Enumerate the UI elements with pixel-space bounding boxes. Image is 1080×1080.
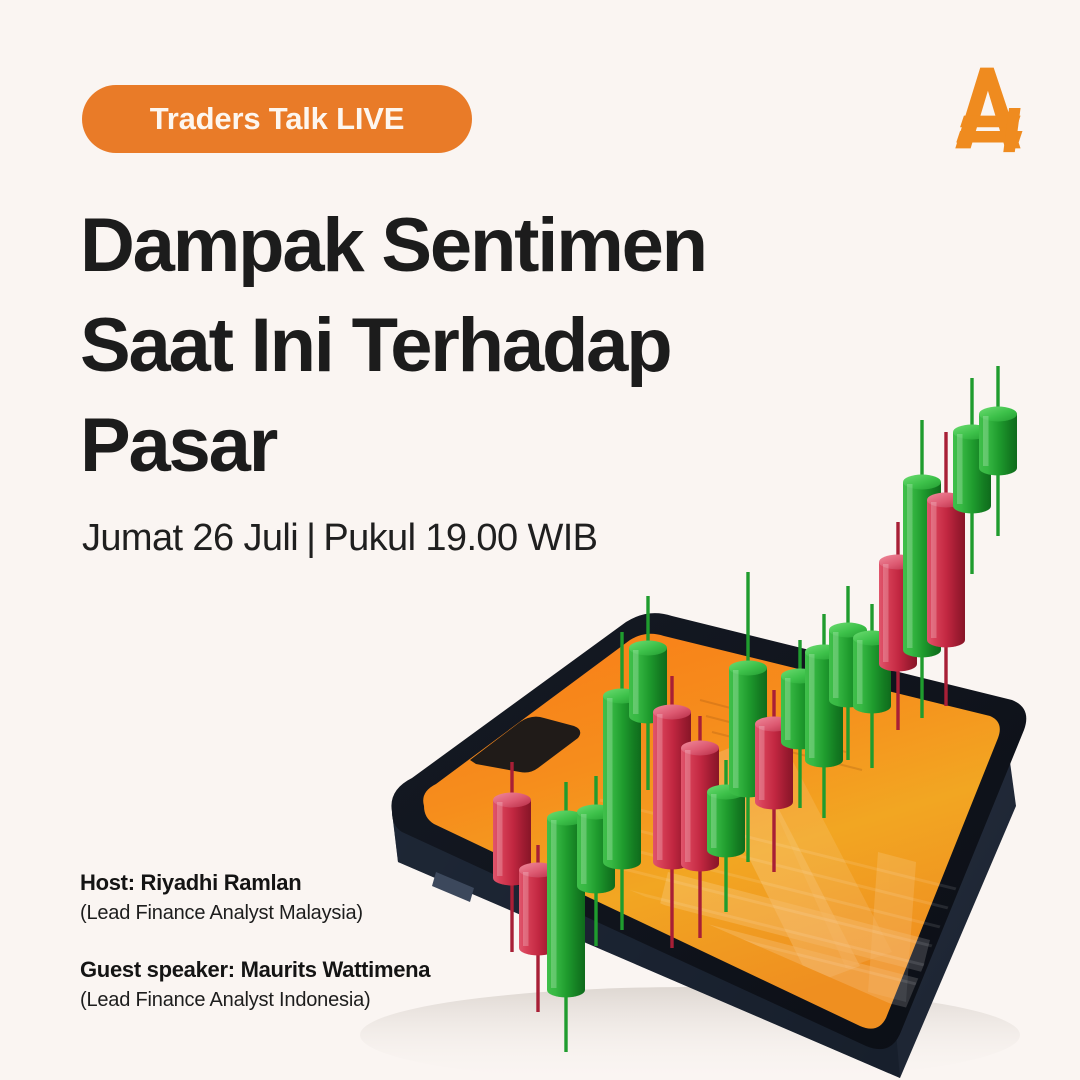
credit-host-role: (Lead Finance Analyst Malaysia) (80, 898, 363, 928)
credit-host-name: Host: Riyadhi Ramlan (80, 868, 363, 898)
credit-guest-role: (Lead Finance Analyst Indonesia) (80, 985, 430, 1015)
speaker-credits: Host: Riyadhi Ramlan (Lead Finance Analy… (0, 0, 1080, 1080)
credit-host: Host: Riyadhi Ramlan (Lead Finance Analy… (80, 868, 363, 928)
credit-guest: Guest speaker: Maurits Wattimena (Lead F… (80, 955, 430, 1015)
poster-root: Traders Talk LIVE Dampak Sentimen Saat I… (0, 0, 1080, 1080)
credit-guest-name: Guest speaker: Maurits Wattimena (80, 955, 430, 985)
